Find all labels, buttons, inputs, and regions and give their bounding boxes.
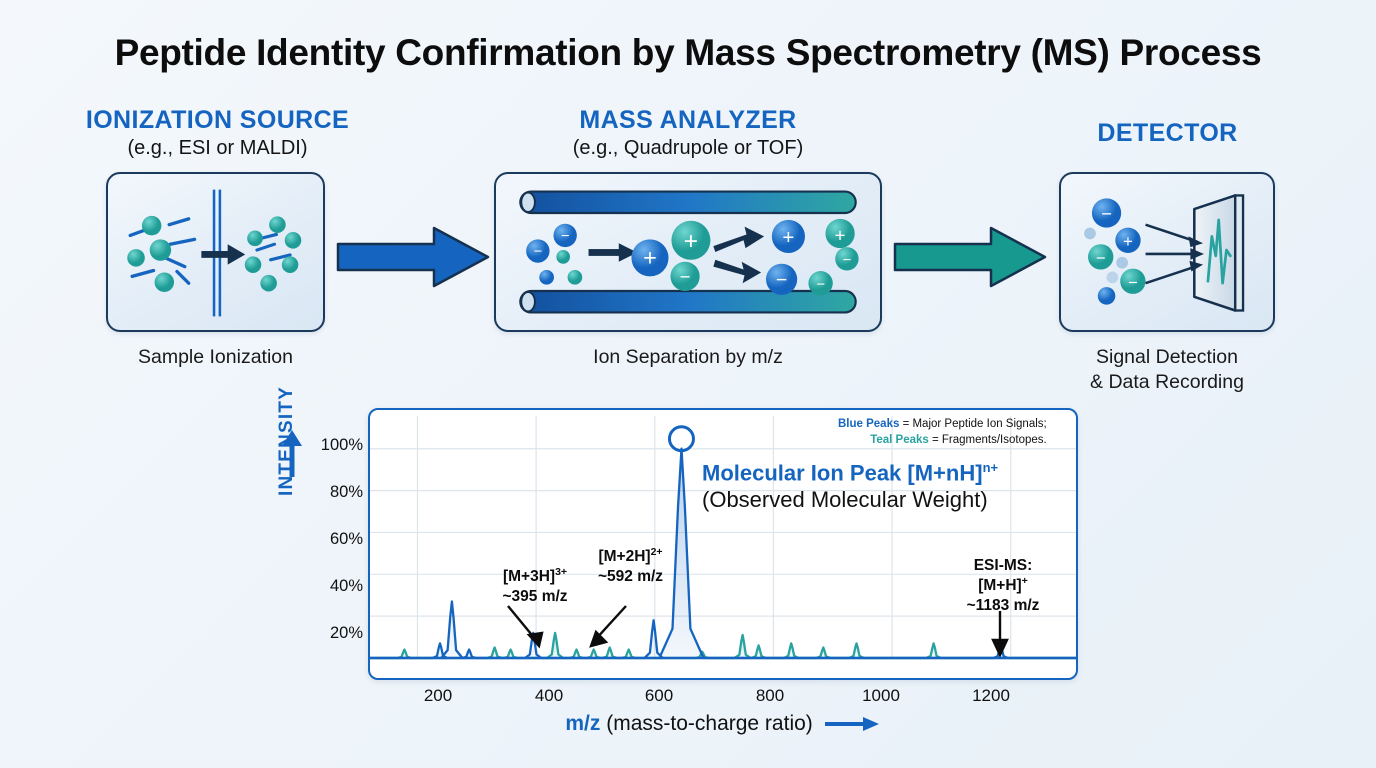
spectrum-series-fragments: [370, 633, 1076, 658]
molecular-ion-peak-callout: Molecular Ion Peak [M+nH]n+ (Observed Mo…: [702, 460, 998, 513]
stage-caption-detector-line2: & Data Recording: [1059, 370, 1275, 395]
x-tick-800: 800: [740, 686, 800, 706]
svg-text:−: −: [1096, 249, 1106, 268]
svg-text:−: −: [816, 277, 825, 293]
ion-path-arrow-split-down: [713, 260, 761, 283]
svg-text:+: +: [782, 226, 794, 249]
annotation-m3h: [M+3H]3+ ~395 m/z: [480, 566, 590, 606]
legend-blue-label: Blue Peaks: [838, 418, 899, 430]
ion-cluster-separated: + + − − −: [766, 219, 859, 296]
annotation-m2h: [M+2H]2+ ~592 m/z: [578, 546, 683, 586]
quadrupole-rod-top: [520, 192, 855, 213]
annotation-esi-ms-mz: ~1183 m/z: [944, 596, 1062, 615]
legend-row-blue: Blue Peaks = Major Peptide Ion Signals;: [838, 417, 1047, 433]
svg-text:+: +: [643, 245, 657, 271]
stage-title-mass-analyzer: MASS ANALYZER: [508, 106, 868, 135]
y-tick-40: 40%: [303, 577, 363, 596]
spectrum-chart[interactable]: [368, 408, 1078, 680]
legend-teal-label: Teal Peaks: [870, 434, 929, 446]
annotation-m3h-charge: 3+: [555, 566, 567, 578]
molecular-ion-peak-charge: n+: [983, 460, 999, 475]
stage-subtitle-mass-analyzer: (e.g., Quadrupole or TOF): [508, 137, 868, 160]
mass-analyzer-illustration: − − + + − +: [496, 174, 880, 330]
legend-blue-text: = Major Peptide Ion Signals;: [899, 418, 1046, 430]
y-tick-80: 80%: [303, 483, 363, 502]
spectrum-plot-area: [370, 410, 1076, 678]
stage-heading-detector: DETECTOR: [1055, 119, 1280, 148]
svg-text:−: −: [1128, 273, 1138, 292]
x-axis-label-rest: (mass-to-charge ratio): [600, 712, 812, 735]
stage-caption-detector-line1: Signal Detection: [1059, 345, 1275, 370]
svg-text:−: −: [776, 269, 787, 291]
x-tick-600: 600: [629, 686, 689, 706]
ionization-source-illustration: [108, 174, 323, 330]
arrow-analyzer-to-detector: [893, 222, 1053, 292]
svg-text:+: +: [835, 224, 846, 245]
annotation-esi-ms-charge: +: [1022, 575, 1028, 587]
molecular-ion-peak-line2: (Observed Molecular Weight): [702, 487, 998, 513]
annotation-m2h-mz: ~592 m/z: [578, 567, 683, 586]
stage-subtitle-ionization-source: (e.g., ESI or MALDI): [55, 137, 380, 160]
incoming-ions: − + − −: [1084, 198, 1145, 304]
x-tick-200: 200: [408, 686, 468, 706]
page-title: Peptide Identity Confirmation by Mass Sp…: [0, 32, 1376, 74]
annotation-m2h-formula: [M+2H]: [598, 548, 650, 565]
stage-box-ionization-source[interactable]: [106, 172, 325, 332]
annotation-esi-ms-title: ESI-MS:: [944, 556, 1062, 575]
ion-path-arrow-1: [589, 243, 638, 262]
molecular-ion-peak-marker: [669, 427, 693, 451]
x-tick-400: 400: [519, 686, 579, 706]
stage-title-ionization-source: IONIZATION SOURCE: [55, 106, 380, 135]
sample-molecules-left: [127, 216, 174, 292]
detection-arrows: [1146, 225, 1199, 284]
molecular-ion-peak-line1: Molecular Ion Peak [M+nH]n+: [702, 460, 998, 487]
arrow-ionization-to-analyzer: [336, 222, 496, 292]
stage-title-detector: DETECTOR: [1055, 119, 1280, 148]
transfer-arrow: [201, 244, 245, 264]
y-axis-arrow: [281, 430, 303, 478]
svg-text:−: −: [843, 253, 852, 269]
ion-path-arrow-split-up: [713, 227, 764, 252]
annotation-m2h-charge: 2+: [651, 546, 663, 558]
svg-text:−: −: [680, 266, 691, 287]
y-tick-60: 60%: [303, 530, 363, 549]
x-axis-label: m/z (mass-to-charge ratio): [368, 712, 1078, 736]
svg-text:−: −: [561, 228, 570, 244]
stage-heading-ionization-source: IONIZATION SOURCE (e.g., ESI or MALDI): [55, 106, 380, 160]
svg-text:+: +: [1123, 232, 1133, 251]
svg-text:−: −: [1101, 203, 1112, 224]
stage-heading-mass-analyzer: MASS ANALYZER (e.g., Quadrupole or TOF): [508, 106, 868, 160]
stage-caption-ionization-source: Sample Ionization: [106, 345, 325, 370]
legend-row-teal: Teal Peaks = Fragments/Isotopes.: [838, 433, 1047, 449]
x-axis-label-mz: m/z: [565, 712, 600, 735]
stage-box-mass-analyzer[interactable]: − − + + − +: [494, 172, 882, 332]
ion-cluster-middle: + + −: [631, 221, 710, 291]
svg-text:+: +: [684, 228, 698, 255]
ion-cluster-entering: − −: [526, 224, 582, 285]
annotation-m3h-formula: [M+3H]: [503, 568, 555, 585]
y-tick-100: 100%: [303, 436, 363, 455]
ionized-molecules-right: [245, 216, 302, 291]
stage-caption-mass-analyzer: Ion Separation by m/z: [494, 345, 882, 370]
spectrum-legend: Blue Peaks = Major Peptide Ion Signals; …: [838, 417, 1047, 448]
annotation-esi-ms-formula: [M+H]: [978, 578, 1021, 595]
stage-caption-detector: Signal Detection & Data Recording: [1059, 345, 1275, 395]
molecular-ion-peak-line1-text: Molecular Ion Peak [M+nH]: [702, 460, 983, 485]
chart-gridlines: [370, 416, 1076, 658]
svg-text:−: −: [534, 244, 543, 260]
quadrupole-rod-bottom: [520, 291, 855, 312]
x-axis-arrow: [825, 717, 881, 731]
x-tick-1200: 1200: [961, 686, 1021, 706]
x-tick-1000: 1000: [851, 686, 911, 706]
annotation-esi-ms: ESI-MS: [M+H]+ ~1183 m/z: [944, 556, 1062, 615]
legend-teal-text: = Fragments/Isotopes.: [929, 434, 1047, 446]
annotation-m3h-mz: ~395 m/z: [480, 587, 590, 606]
detector-illustration: − + − −: [1061, 174, 1273, 330]
stage-box-detector[interactable]: − + − −: [1059, 172, 1275, 332]
y-tick-20: 20%: [303, 624, 363, 643]
